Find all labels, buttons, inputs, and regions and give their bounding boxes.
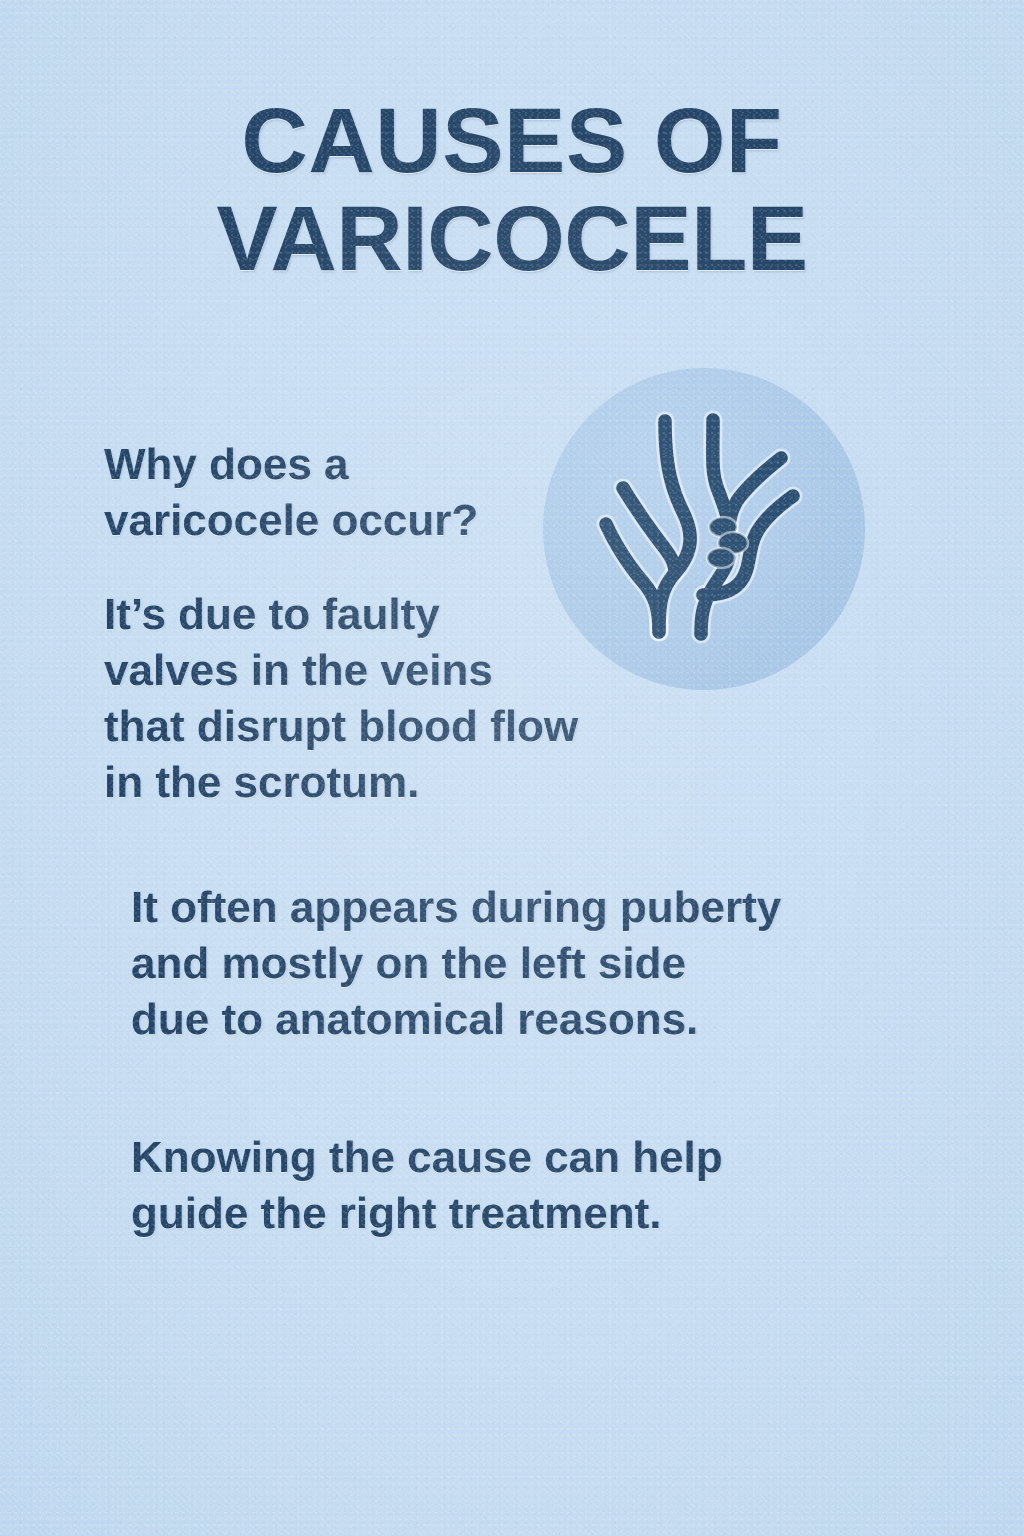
body-line: valves in the veins [104, 643, 578, 699]
body-line: Why does a [104, 437, 578, 493]
page-title-line-2: VARICOCELE [0, 190, 1024, 288]
body-line: guide the right treatment. [131, 1186, 723, 1242]
body-line: that disrupt blood flow [104, 699, 578, 755]
body-line: It often appears during puberty [131, 880, 781, 936]
body-line: Knowing the cause can help [131, 1130, 723, 1186]
body-line: in the scrotum. [104, 755, 578, 811]
body-paragraph-question: Why does a varicocele occur? [104, 437, 578, 549]
body-line: varicocele occur? [104, 493, 578, 549]
body-line: It’s due to faulty [104, 587, 578, 643]
page-title-line-1: CAUSES OF [0, 92, 1024, 190]
body-paragraph-answer: It’s due to faulty valves in the veins t… [104, 587, 578, 811]
body-line: due to anatomical reasons. [131, 992, 781, 1048]
body-text-block-2: It often appears during puberty and most… [131, 880, 781, 1048]
varicose-veins-icon [543, 368, 865, 690]
varicose-veins-illustration [543, 368, 865, 690]
body-text-block-3: Knowing the cause can help guide the rig… [131, 1130, 723, 1242]
page-title: CAUSES OF VARICOCELE [0, 92, 1024, 288]
vein-stroke-group [606, 420, 793, 634]
infographic-poster: CAUSES OF VARICOCELE [0, 0, 1024, 1536]
body-text-block-1: Why does a varicocele occur? It’s due to… [104, 437, 578, 811]
body-line: and mostly on the left side [131, 936, 781, 992]
